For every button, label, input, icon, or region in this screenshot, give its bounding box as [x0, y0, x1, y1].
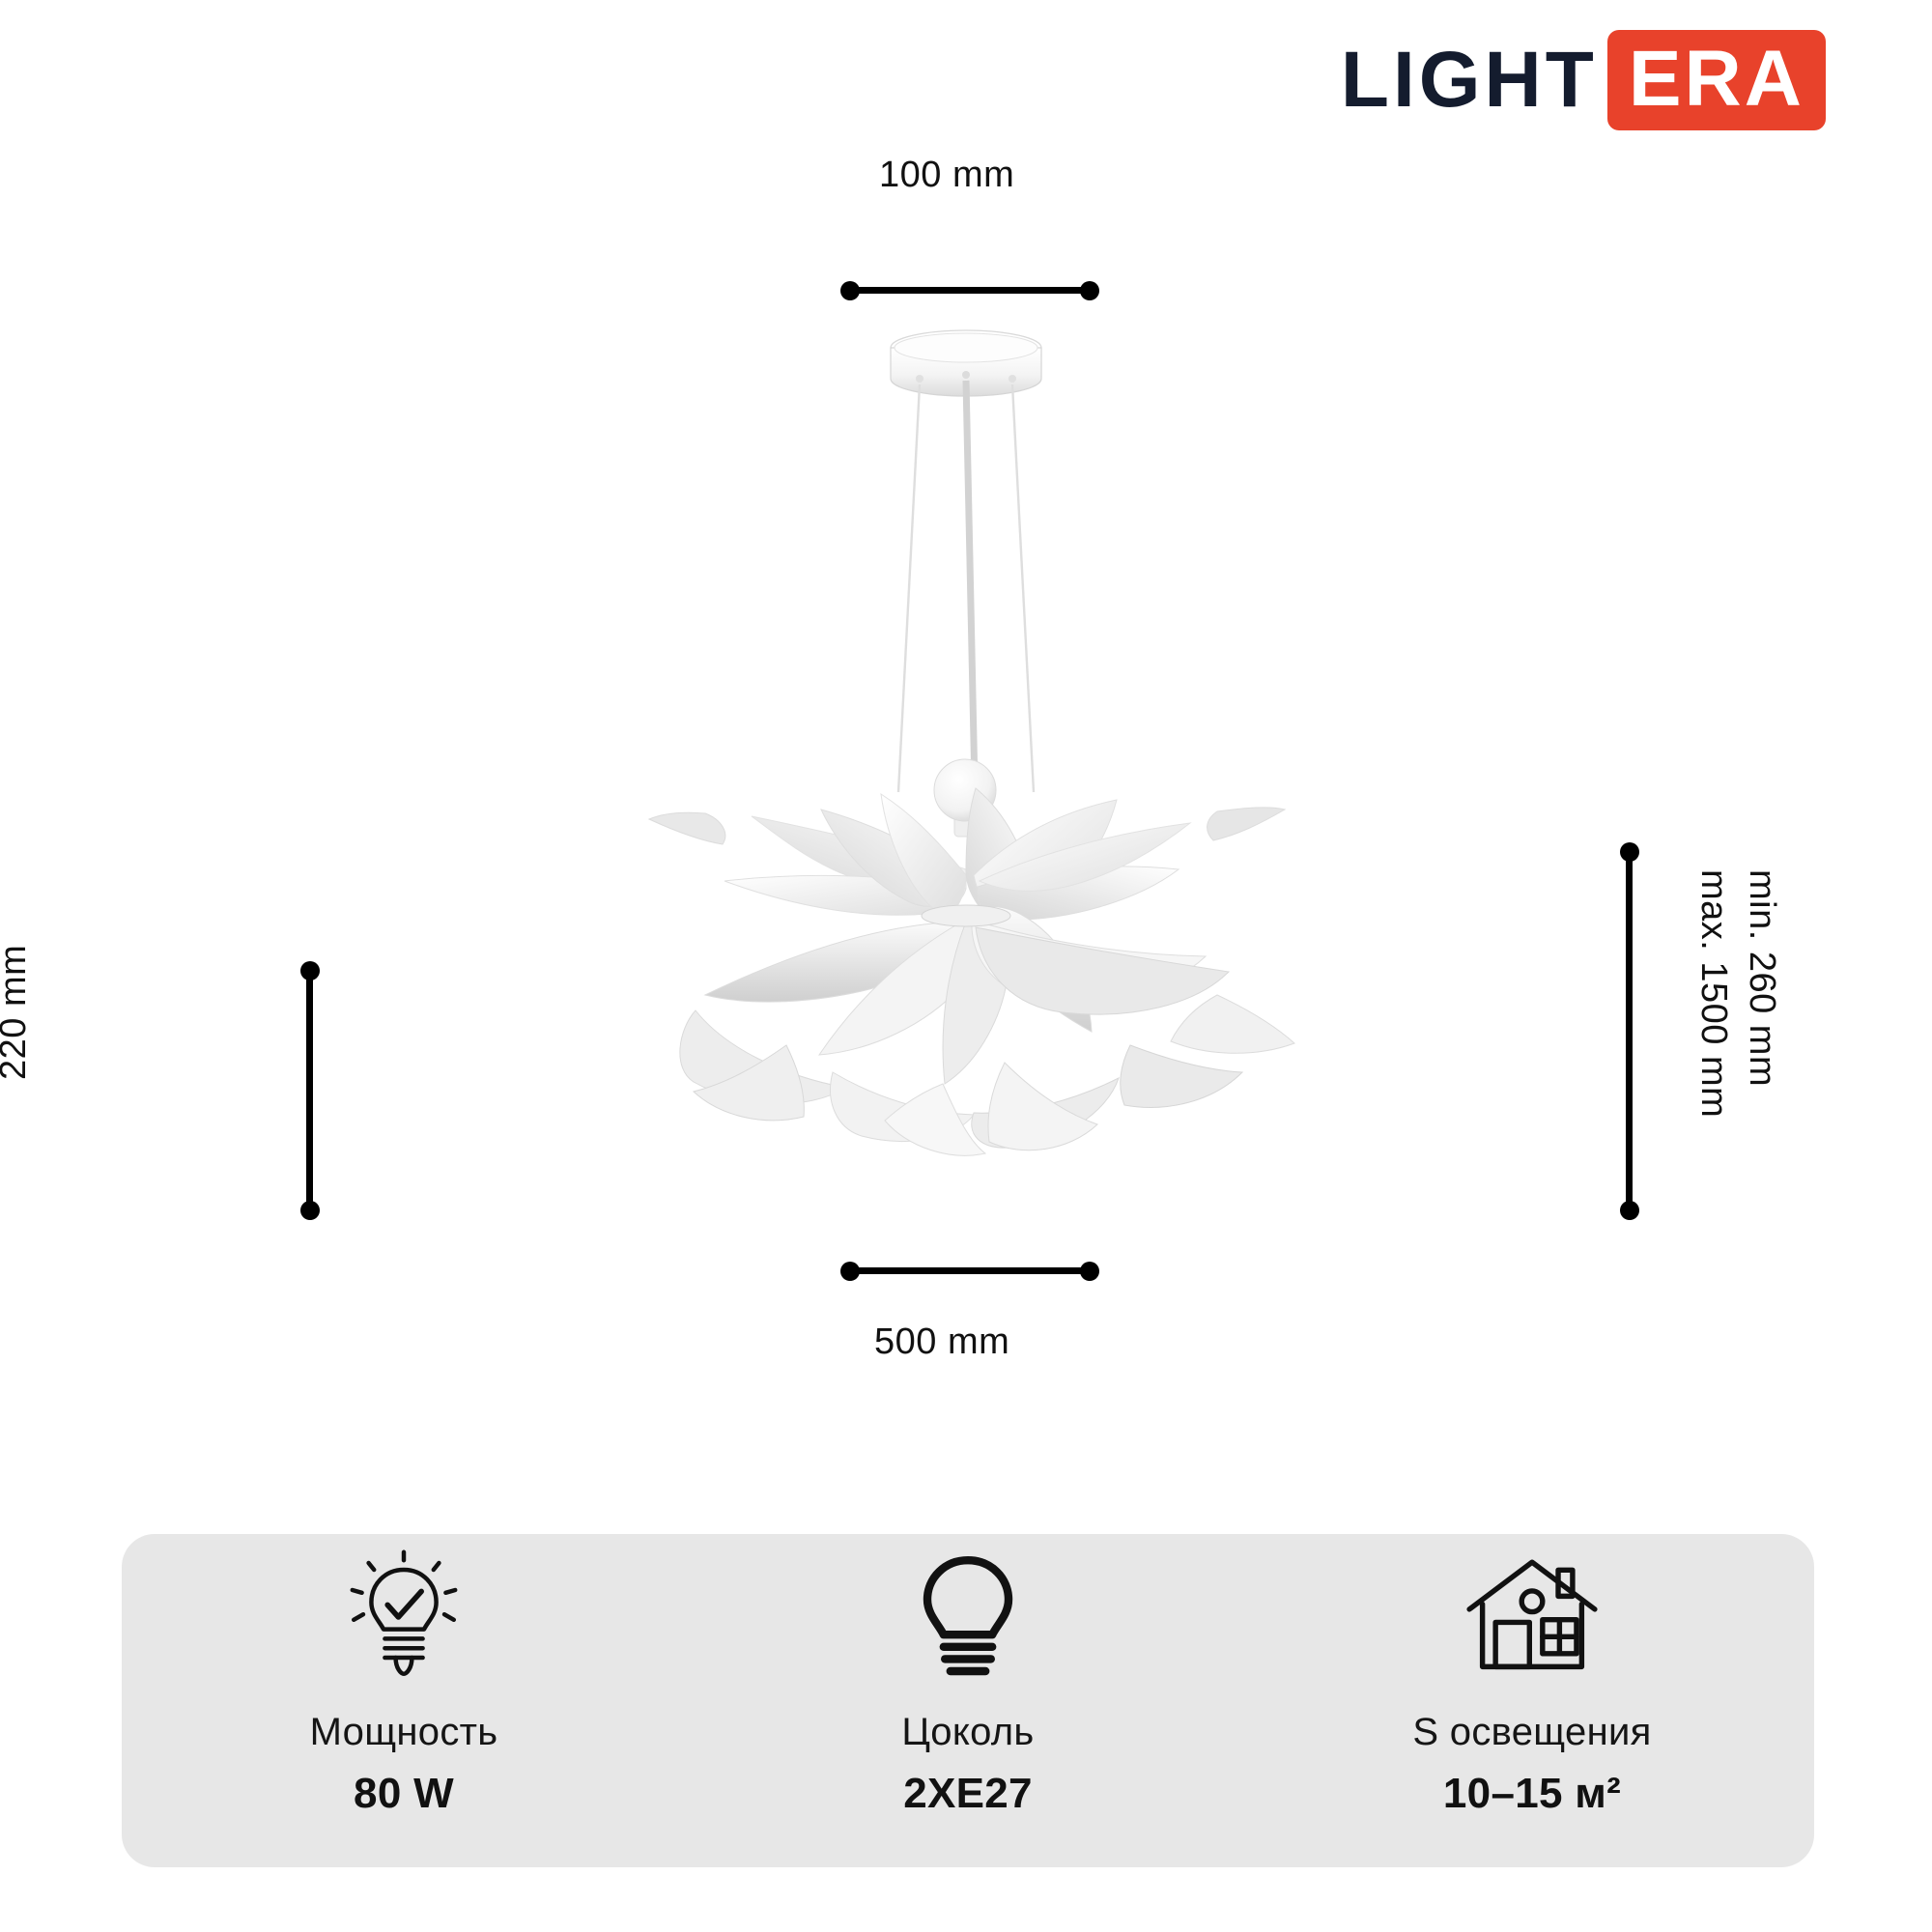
dimension-endpoint-dot-icon: [300, 1201, 320, 1220]
spec-item-socket: Цоколь 2XE27: [686, 1551, 1250, 1818]
spec-title-socket: Цоколь: [901, 1711, 1034, 1754]
dimension-label-bottom-width: 500 mm: [874, 1321, 1009, 1363]
dimension-label-left-height: 220 mm: [0, 945, 35, 1080]
spec-item-power: Мощность 80 W: [122, 1551, 686, 1818]
spec-value-power: 80 W: [354, 1770, 454, 1818]
dimension-endpoint-dot-icon: [300, 961, 320, 980]
spec-title-power: Мощность: [310, 1711, 498, 1754]
brand-logo-era-text: ERA: [1629, 40, 1804, 119]
brand-logo-era-badge: ERA: [1607, 30, 1826, 130]
brand-logo-light-text: LIGHT: [1341, 41, 1607, 120]
dimension-endpoint-dot-icon: [1620, 842, 1639, 862]
dimension-line-top-width: [848, 287, 1090, 294]
spec-panel: Мощность 80 W Цоколь 2XE27: [122, 1534, 1814, 1867]
dimension-line-right-height: [1626, 850, 1633, 1212]
brand-logo: LIGHT ERA: [1341, 29, 1826, 130]
dimension-label-top-width: 100 mm: [879, 155, 1014, 196]
bulb-socket-icon: [900, 1551, 1036, 1682]
bulb-check-icon: [336, 1551, 471, 1682]
lamp-shade-lower-petals: [680, 906, 1294, 1155]
product-illustration: [580, 328, 1352, 1294]
spec-item-area: S освещения 10–15 м²: [1250, 1551, 1814, 1818]
spec-title-area: S освещения: [1412, 1711, 1651, 1754]
spec-value-area: 10–15 м²: [1443, 1770, 1621, 1818]
dimension-label-right-max: max. 1500 mm: [1692, 869, 1734, 1118]
dimension-label-right-min: min. 260 mm: [1741, 869, 1782, 1087]
dimension-line-left-height: [306, 969, 313, 1210]
shade-hub: [922, 905, 1010, 926]
dimension-endpoint-dot-icon: [840, 281, 860, 300]
dimension-endpoint-dot-icon: [1620, 1201, 1639, 1220]
house-icon: [1462, 1551, 1603, 1682]
dimension-endpoint-dot-icon: [1080, 281, 1099, 300]
spec-value-socket: 2XE27: [903, 1770, 1033, 1818]
